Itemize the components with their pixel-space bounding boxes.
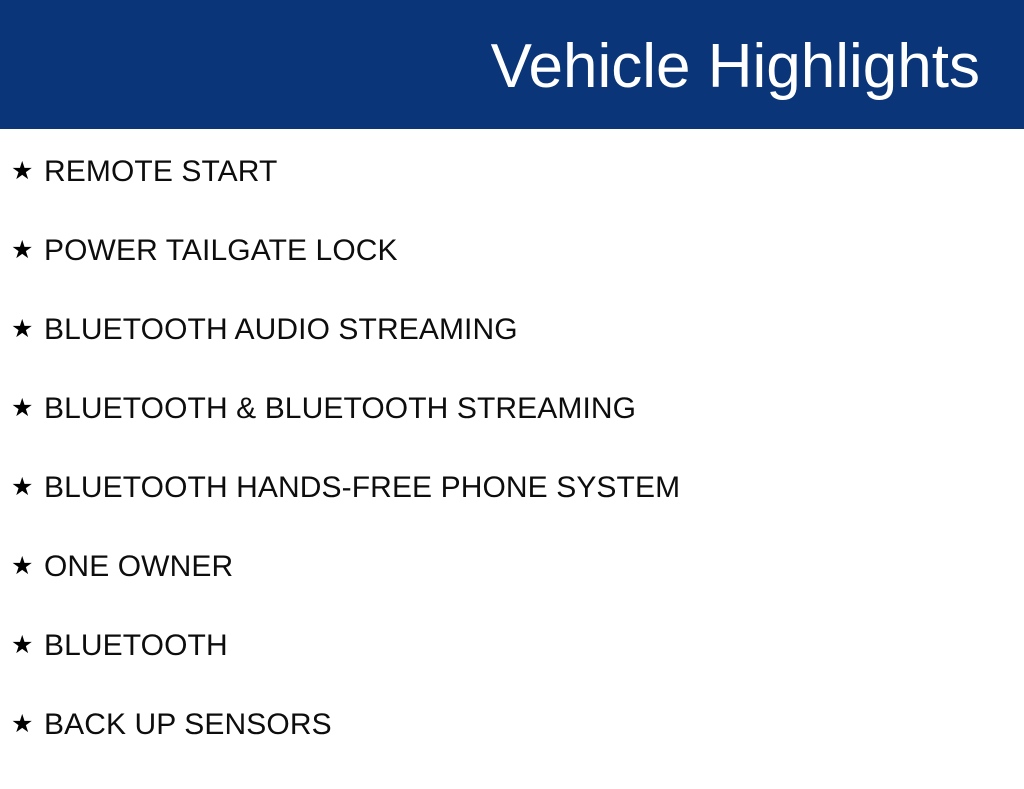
list-item: ★ REMOTE START	[0, 129, 1024, 236]
list-item: ★ POWER TAILGATE LOCK	[0, 236, 1024, 315]
header-banner: Vehicle Highlights	[0, 0, 1024, 129]
star-bullet-icon: ★	[11, 395, 44, 420]
list-item: ★ BLUETOOTH & BLUETOOTH STREAMING	[0, 394, 1024, 473]
list-item: ★ ONE OWNER	[0, 552, 1024, 631]
list-item: ★ BLUETOOTH	[0, 631, 1024, 710]
list-item-label: REMOTE START	[44, 157, 277, 187]
star-bullet-icon: ★	[11, 711, 44, 736]
star-bullet-icon: ★	[11, 553, 44, 578]
star-bullet-icon: ★	[11, 158, 44, 183]
star-bullet-icon: ★	[11, 474, 44, 499]
star-bullet-icon: ★	[11, 316, 44, 341]
list-item-label: POWER TAILGATE LOCK	[44, 236, 398, 266]
list-item: ★ BLUETOOTH AUDIO STREAMING	[0, 315, 1024, 394]
star-bullet-icon: ★	[11, 632, 44, 657]
star-bullet-icon: ★	[11, 237, 44, 262]
list-item-label: BLUETOOTH & BLUETOOTH STREAMING	[44, 394, 636, 424]
list-item-label: ONE OWNER	[44, 552, 233, 582]
vehicle-highlights-list: ★ REMOTE START ★ POWER TAILGATE LOCK ★ B…	[0, 129, 1024, 768]
list-item-label: BLUETOOTH AUDIO STREAMING	[44, 315, 518, 345]
vehicle-highlights-slide: Vehicle Highlights ★ REMOTE START ★ POWE…	[0, 0, 1024, 768]
list-item-label: BACK UP SENSORS	[44, 710, 332, 740]
list-item-label: BLUETOOTH	[44, 631, 228, 661]
list-item: ★ BLUETOOTH HANDS-FREE PHONE SYSTEM	[0, 473, 1024, 552]
list-item: ★ BACK UP SENSORS	[0, 710, 1024, 789]
page-title: Vehicle Highlights	[491, 36, 980, 98]
list-item-label: BLUETOOTH HANDS-FREE PHONE SYSTEM	[44, 473, 680, 503]
